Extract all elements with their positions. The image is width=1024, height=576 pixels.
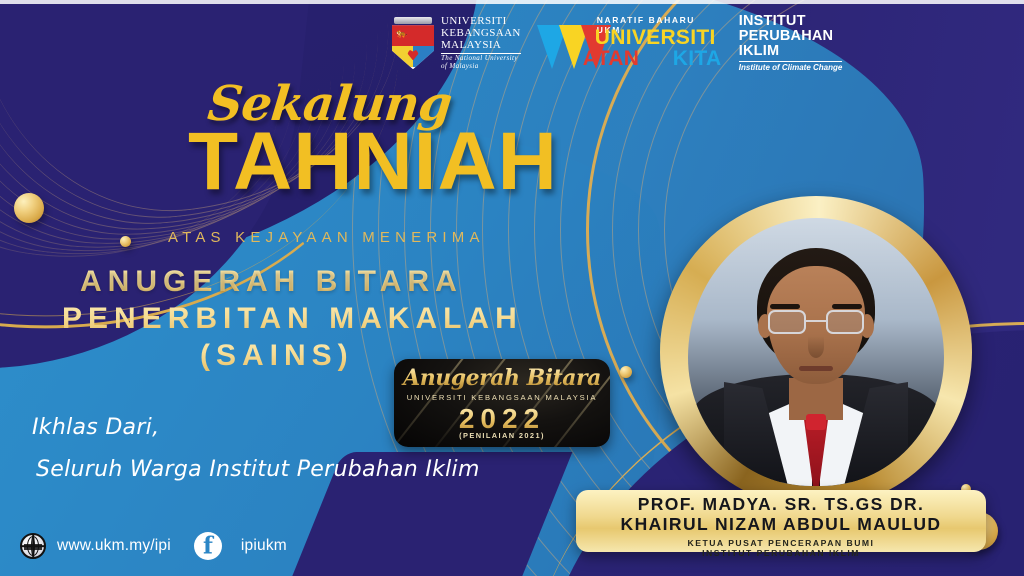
award-name-line-1: ANUGERAH BITARA xyxy=(80,265,463,299)
recipient-title-line-2: INSTITUT PERUBAHAN IKLIM xyxy=(576,548,986,558)
ukm-crest-icon: 🐅 xyxy=(392,17,434,69)
institut-perubahan-iklim-logo: INSTITUT PERUBAHAN IKLIM Institute of Cl… xyxy=(739,14,843,73)
recipient-name-plate: PROF. MADYA. SR. TS.GS DR. KHAIRUL NIZAM… xyxy=(576,490,986,552)
header-logo-row: 🐅 UNIVERSITI KEBANGSAAN MALAYSIA The Nat… xyxy=(392,14,842,73)
naratif-baharu-ukm-logo: NARATIF BAHARU UKM UNIVERSITI ATAN KITA xyxy=(537,15,723,71)
plaque-university: UNIVERSITI KEBANGSAAN MALAYSIA xyxy=(394,393,610,402)
congratulations-banner: 🐅 UNIVERSITI KEBANGSAAN MALAYSIA The Nat… xyxy=(0,0,1024,576)
naratif-word-kita: KITA xyxy=(673,47,722,71)
gold-sphere xyxy=(14,193,44,223)
ukm-line-2: KEBANGSAAN xyxy=(441,28,521,40)
recipient-portrait xyxy=(688,218,944,486)
portrait-medallion-frame xyxy=(660,196,972,508)
eyeglasses-icon xyxy=(768,310,864,336)
anugerah-bitara-plaque: Anugerah Bitara UNIVERSITI KEBANGSAAN MA… xyxy=(394,359,610,447)
ukm-tagline-2: of Malaysia xyxy=(441,63,521,70)
recipient-title-line-1: KETUA PUSAT PENCERAPAN BUMI xyxy=(576,538,986,548)
gold-sphere xyxy=(120,236,131,247)
plaque-script-title: Anugerah Bitara xyxy=(394,365,610,391)
page-title: TAHNIAH xyxy=(188,115,558,209)
subheading: ATAS KEJAYAAN MENERIMA xyxy=(168,229,485,246)
ukm-line-3: MALAYSIA xyxy=(441,40,521,52)
recipient-name-line-2: KHAIRUL NIZAM ABDUL MAULUD xyxy=(576,515,986,535)
ipi-line-1: INSTITUT xyxy=(739,14,843,29)
naratif-word-watan: ATAN xyxy=(583,47,639,71)
footer-contact-row: www.ukm.my/ipi f ipiukm xyxy=(20,532,287,560)
gold-sphere xyxy=(620,366,632,378)
ipi-line-2: PERUBAHAN xyxy=(739,29,843,44)
website-url[interactable]: www.ukm.my/ipi xyxy=(57,537,171,555)
ukm-logo-text: UNIVERSITI KEBANGSAAN MALAYSIA The Natio… xyxy=(441,16,521,70)
signoff-line-2: Seluruh Warga Institut Perubahan Iklim xyxy=(36,457,480,482)
ipi-line-3: IKLIM xyxy=(739,44,843,59)
facebook-icon[interactable]: f xyxy=(194,532,222,560)
signoff-line-1: Ikhlas Dari, xyxy=(32,415,159,440)
plaque-evaluation-year: (PENILAIAN 2021) xyxy=(394,431,610,440)
facebook-handle[interactable]: ipiukm xyxy=(241,537,287,555)
globe-icon xyxy=(20,533,46,559)
ukm-logo: 🐅 UNIVERSITI KEBANGSAAN MALAYSIA The Nat… xyxy=(392,16,521,70)
facebook-glyph: f xyxy=(203,535,213,558)
award-name-line-2: PENERBITAN MAKALAH xyxy=(62,302,523,336)
ipi-tagline: Institute of Climate Change xyxy=(739,61,843,72)
award-name-line-3: (SAINS) xyxy=(200,339,354,373)
recipient-name-line-1: PROF. MADYA. SR. TS.GS DR. xyxy=(576,495,986,515)
top-white-strip xyxy=(0,0,1024,4)
